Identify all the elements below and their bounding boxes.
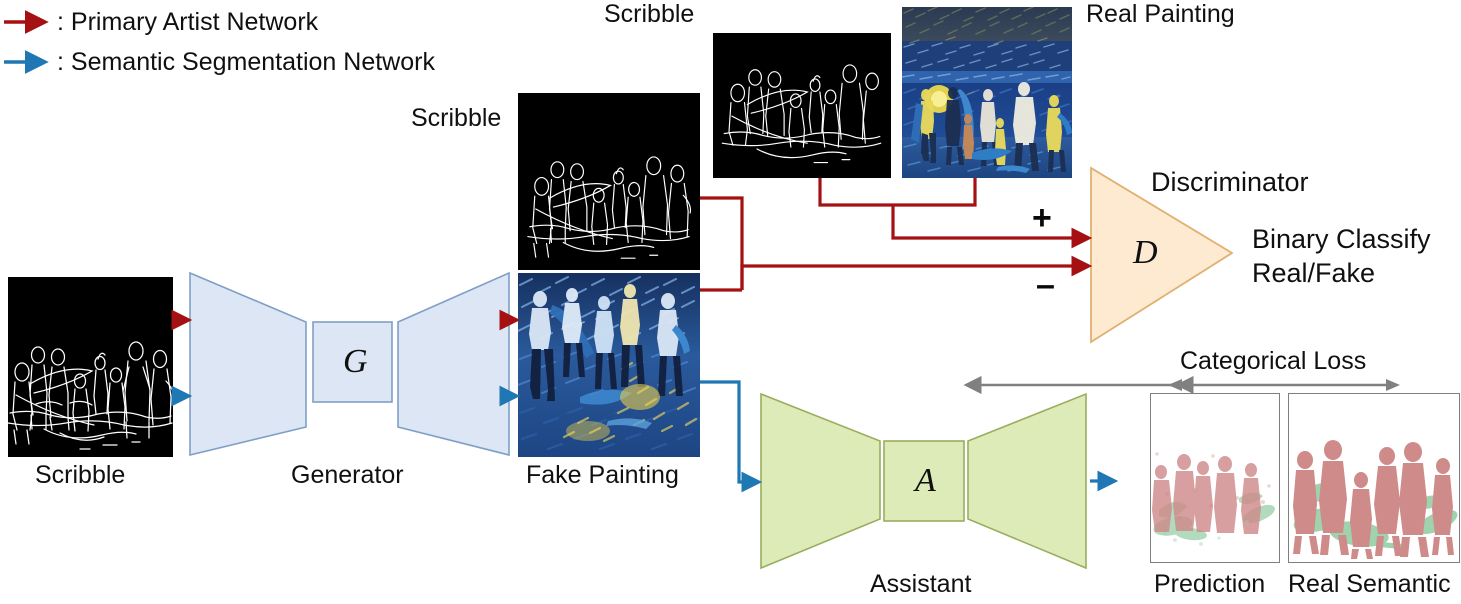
label-real-painting: Real Painting (1086, 2, 1235, 27)
prediction-mask (1151, 394, 1278, 561)
loss-arrow-head-right (1386, 379, 1400, 391)
label-discriminator: Discriminator (1151, 169, 1309, 196)
prediction-panel (1150, 393, 1280, 563)
label-binary-classify-line1: Binary Classify (1252, 226, 1431, 253)
discriminator-symbol-label: D (1133, 236, 1158, 270)
real-semantic-panel (1288, 393, 1460, 563)
label-prediction: Prediction (1154, 572, 1265, 597)
legend-label-semantic-seg: : Semantic Segmentation Network (57, 50, 435, 75)
label-assistant: Assistant (870, 572, 971, 597)
assistant-encoder-shape (761, 394, 880, 568)
legend-label-primary-artist: : Primary Artist Network (57, 10, 318, 35)
generator-symbol-label: G (343, 345, 368, 379)
arrow-real-pair-to-plus (893, 205, 1088, 238)
loss-arrow-head-left (1168, 379, 1182, 391)
assistant-symbol-label: A (915, 464, 936, 498)
scribble-top-edges (713, 33, 891, 178)
label-generator: Generator (291, 463, 404, 488)
fake-painting-art (518, 273, 700, 457)
label-scribble-input: Scribble (35, 463, 125, 488)
minus-sign-label: – (1036, 268, 1055, 302)
fake-painting-image (518, 273, 700, 457)
assistant-decoder-shape (968, 394, 1086, 568)
scribble-mid-image (518, 93, 700, 270)
scribble-input-image (8, 277, 173, 457)
arrow-real-painting-down (893, 178, 975, 205)
real-semantic-mask (1289, 394, 1458, 561)
scribble-top-image (713, 33, 891, 178)
label-fake-painting: Fake Painting (526, 463, 679, 488)
real-painting-image (902, 7, 1072, 178)
arrow-fake-to-assistant (700, 382, 758, 482)
label-real-semantic: Real Semantic (1288, 572, 1451, 597)
label-categorical-loss: Categorical Loss (1180, 349, 1366, 374)
real-painting-art (902, 7, 1072, 178)
generator-decoder-shape (398, 273, 509, 455)
legend: : Primary Artist Network : Semantic Segm… (0, 0, 520, 86)
generator-encoder-shape (190, 273, 306, 455)
arrow-mid-scribble-to-disc (700, 198, 742, 290)
label-binary-classify-line2: Real/Fake (1252, 260, 1375, 287)
label-scribble-mid: Scribble (411, 106, 501, 131)
scribble-input-edges (8, 277, 173, 457)
scribble-mid-edges (518, 93, 700, 270)
label-scribble-top: Scribble (604, 2, 694, 27)
plus-sign-label: + (1032, 201, 1052, 235)
arrow-top-scribble-down (820, 178, 893, 205)
